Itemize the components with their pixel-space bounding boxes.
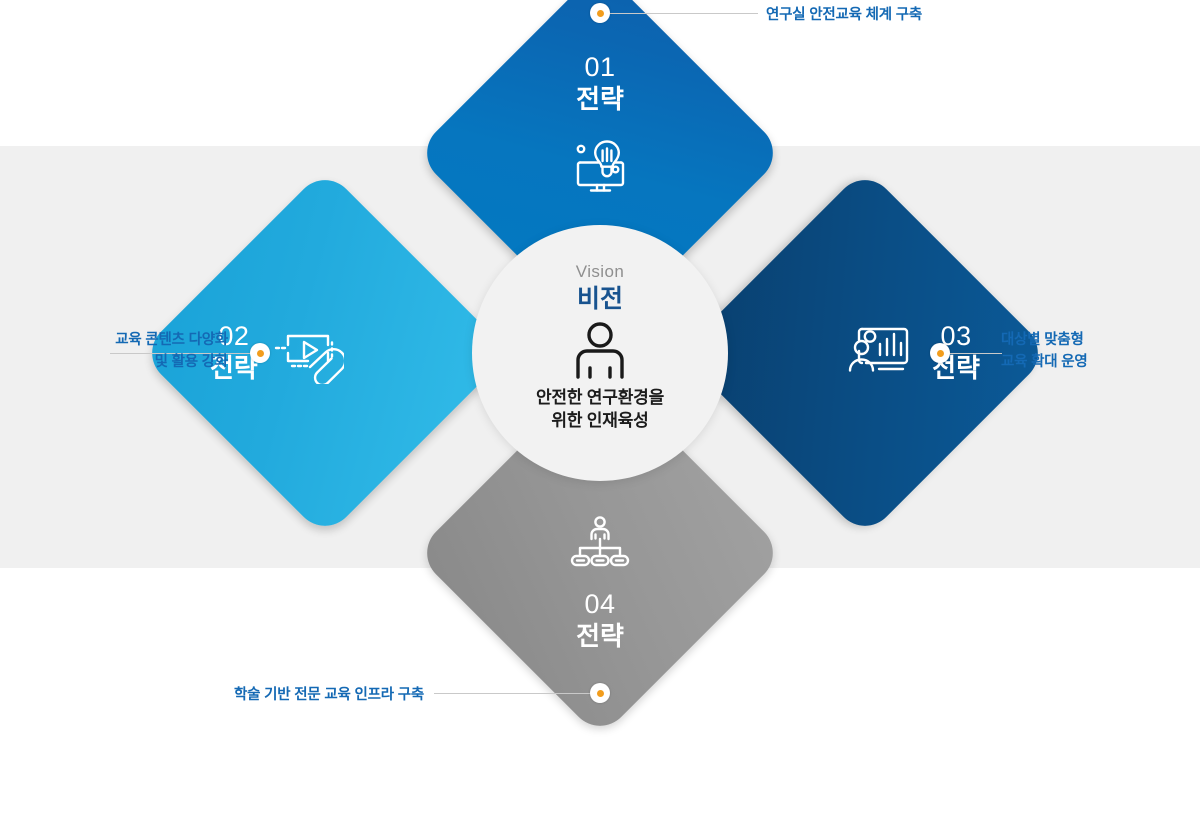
- callout-01-line1: 연구실 안전교육 체계 구축: [766, 4, 922, 26]
- callout-01: 연구실 안전교육 체계 구축: [766, 4, 922, 26]
- callout-04: 학술 기반 전문 교육 인프라 구축: [0, 684, 424, 706]
- vision-statement: 안전한 연구환경을 위한 인재육성: [536, 387, 664, 433]
- callout-03: 대상별 맞춤형 교육 확대 운영: [1001, 329, 1088, 374]
- callout-04-line1: 학술 기반 전문 교육 인프라 구축: [0, 684, 424, 706]
- strategy-diagram: 01 전략: [0, 0, 1200, 708]
- vision-statement-line2: 위한 인재육성: [536, 410, 664, 433]
- connector-line-03: [944, 353, 1002, 354]
- connector-dot-03[interactable]: [930, 343, 950, 363]
- monitor-lightbulb-icon: [567, 137, 633, 197]
- person-barchart-icon: [846, 323, 914, 383]
- strategy-word-01: 전략: [576, 84, 624, 115]
- strategy-number-04: 04: [584, 589, 615, 621]
- connector-dot-04[interactable]: [590, 683, 610, 703]
- strategy-number-01: 01: [584, 52, 615, 84]
- callout-03-line1: 대상별 맞춤형: [1001, 329, 1088, 351]
- connector-line-04: [434, 693, 594, 694]
- vision-circle: Vision 비전 안전한 연구환경을 위한 인재육성: [472, 225, 728, 481]
- connector-dot-02[interactable]: [250, 343, 270, 363]
- vision-statement-line1: 안전한 연구환경을: [536, 387, 664, 410]
- callout-02-line1: 교육 콘텐츠 다양화: [0, 329, 228, 351]
- strategy-word-04: 전략: [576, 621, 624, 652]
- person-icon: [571, 321, 629, 383]
- callout-02: 교육 콘텐츠 다양화 및 활용 강화: [0, 329, 228, 374]
- callout-02-line2: 및 활용 강화: [0, 351, 228, 373]
- org-chart-icon: [569, 515, 631, 571]
- video-attachment-icon: [274, 322, 344, 384]
- vision-label-en: Vision: [576, 263, 624, 282]
- vision-label-ko: 비전: [577, 285, 623, 314]
- callout-03-line2: 교육 확대 운영: [1001, 351, 1088, 373]
- connector-dot-01[interactable]: [590, 3, 610, 23]
- connector-line-01: [608, 13, 758, 14]
